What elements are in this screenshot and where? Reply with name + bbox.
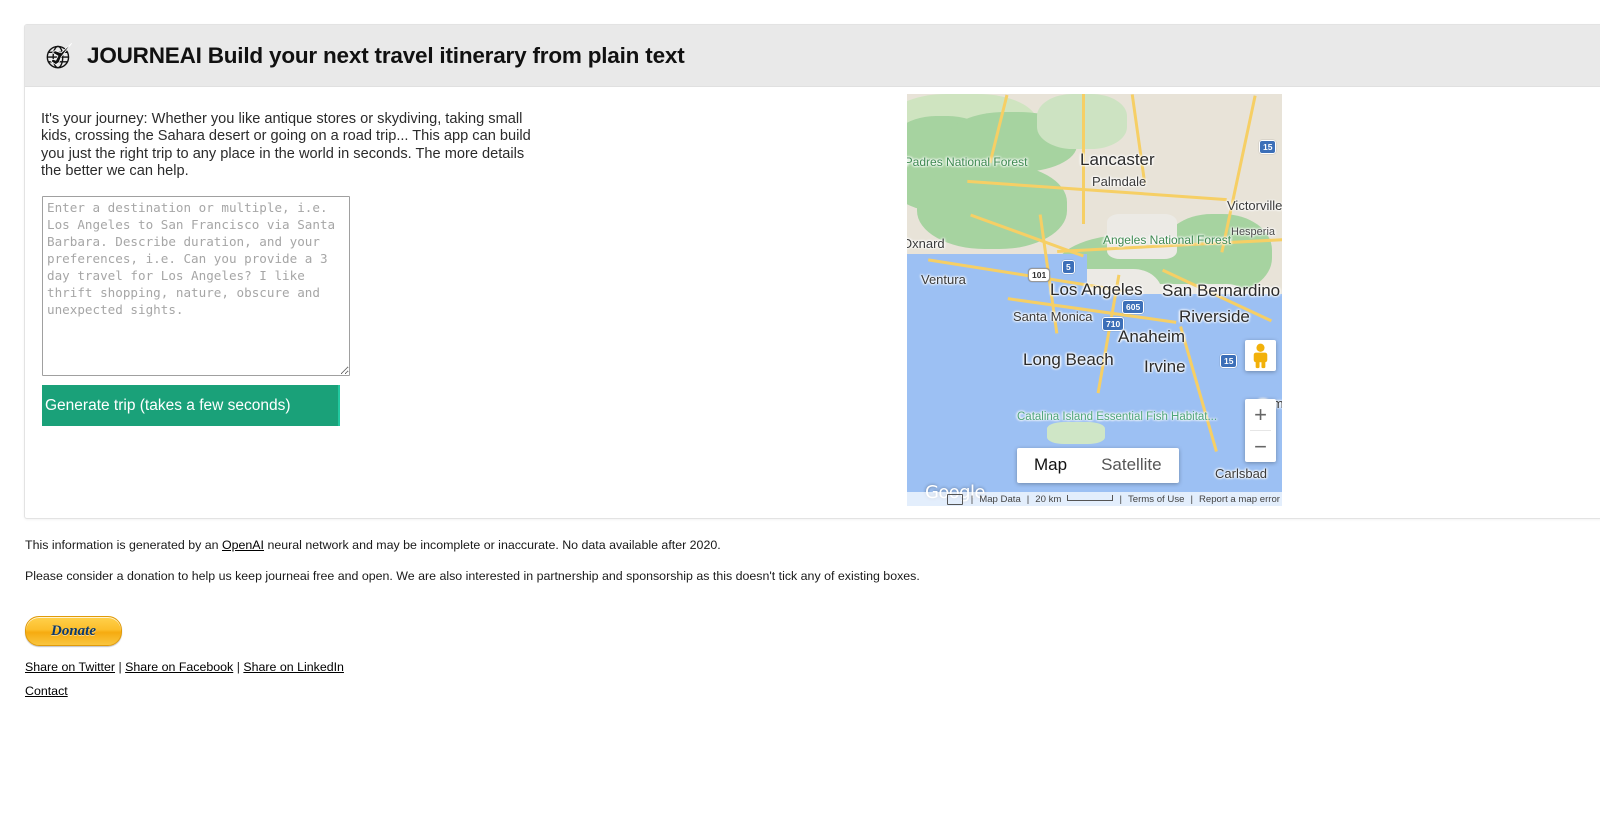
trip-description-input[interactable] xyxy=(42,196,350,376)
contact-link[interactable]: Contact xyxy=(25,684,68,698)
page-footer: This information is generated by an Open… xyxy=(25,537,1525,698)
form-column: It's your journey: Whether you like anti… xyxy=(41,111,561,426)
zoom-in-button[interactable]: + xyxy=(1245,399,1276,430)
donation-note: Please consider a donation to help us ke… xyxy=(25,568,1525,584)
generate-trip-button[interactable]: Generate trip (takes a few seconds) xyxy=(42,385,340,426)
map-panel[interactable]: 15 5 101 605 710 15 Lancaster Palmdale V… xyxy=(907,94,1282,506)
map-type-switch[interactable]: Map Satellite xyxy=(1017,448,1179,483)
zoom-out-button[interactable]: − xyxy=(1245,431,1276,462)
map-scale-bar xyxy=(1067,495,1113,501)
map-zoom-controls[interactable]: + − xyxy=(1245,399,1276,462)
map-label-victorville: Victorville xyxy=(1227,198,1282,213)
attrib-divider: | xyxy=(1027,494,1030,505)
share-twitter-link[interactable]: Share on Twitter xyxy=(25,660,115,674)
share-sep: | xyxy=(233,660,243,674)
keyboard-shortcuts-icon[interactable] xyxy=(947,494,963,505)
donate-button[interactable]: Donate xyxy=(25,616,122,646)
disclaimer-prefix: This information is generated by an xyxy=(25,538,222,552)
map-type-map-button[interactable]: Map xyxy=(1017,448,1084,483)
catalina-island xyxy=(1047,422,1105,444)
disclaimer-suffix: neural network and may be incomplete or … xyxy=(264,538,721,552)
highway-shield-101: 101 xyxy=(1028,268,1050,282)
globe-airplane-icon xyxy=(42,39,76,73)
map-data-label: Map Data xyxy=(979,494,1021,505)
intro-text: It's your journey: Whether you like anti… xyxy=(41,111,541,180)
map-attribution-bar: | Map Data | 20 km | Terms of Use | Repo… xyxy=(907,492,1282,506)
attrib-divider: | xyxy=(1119,494,1122,505)
street-view-pegman[interactable] xyxy=(1245,340,1276,371)
disclaimer-text: This information is generated by an Open… xyxy=(25,537,1525,553)
map-type-satellite-button[interactable]: Satellite xyxy=(1084,448,1178,483)
highway-shield-15-south: 15 xyxy=(1220,354,1237,368)
map-scale-label: 20 km xyxy=(1035,494,1061,505)
highway-shield-605: 605 xyxy=(1122,300,1144,314)
openai-link[interactable]: OpenAI xyxy=(222,538,264,552)
highway-shield-710: 710 xyxy=(1102,317,1124,331)
app-header: JOURNEAI Build your next travel itinerar… xyxy=(25,25,1600,87)
road xyxy=(1082,94,1085,224)
app-body: It's your journey: Whether you like anti… xyxy=(25,87,1600,519)
contact-row: Contact xyxy=(25,684,1525,698)
share-linkedin-link[interactable]: Share on LinkedIn xyxy=(243,660,344,674)
share-sep: | xyxy=(115,660,125,674)
terrain-patch xyxy=(1162,214,1272,294)
urban-area xyxy=(1107,214,1177,259)
app-card: JOURNEAI Build your next travel itinerar… xyxy=(24,24,1600,519)
road xyxy=(1131,94,1146,184)
share-facebook-link[interactable]: Share on Facebook xyxy=(125,660,233,674)
map-canvas[interactable]: 15 5 101 605 710 15 Lancaster Palmdale V… xyxy=(907,94,1282,506)
pegman-icon xyxy=(1245,340,1276,371)
page-title: JOURNEAI Build your next travel itinerar… xyxy=(87,43,685,69)
highway-shield-15: 15 xyxy=(1259,140,1276,154)
map-label-palmdale: Palmdale xyxy=(1092,174,1146,189)
report-map-error-link[interactable]: Report a map error xyxy=(1199,494,1280,505)
highway-shield-5: 5 xyxy=(1062,260,1075,274)
attrib-divider: | xyxy=(1190,494,1193,505)
terms-of-use-link[interactable]: Terms of Use xyxy=(1128,494,1185,505)
attrib-divider: | xyxy=(971,494,974,505)
share-links-row: Share on Twitter | Share on Facebook | S… xyxy=(25,660,1525,674)
